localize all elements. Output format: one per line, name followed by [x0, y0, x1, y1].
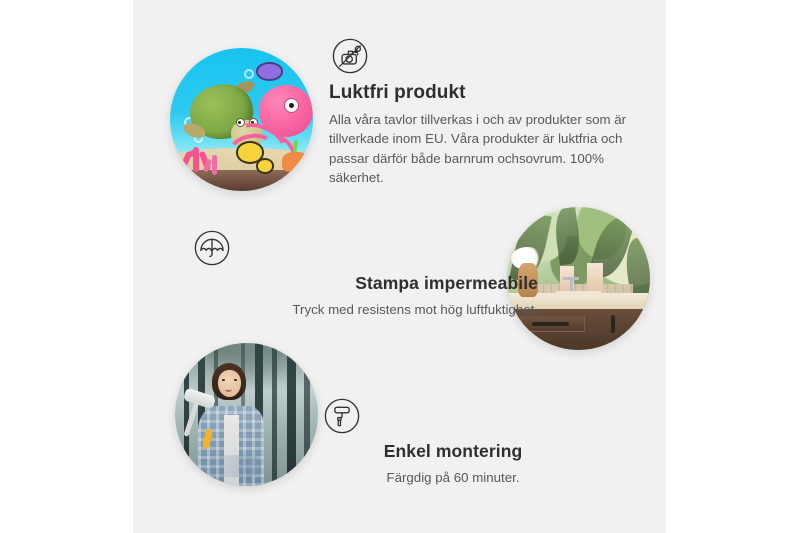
feature-easy-install: Enkel montering Färgdig på 60 minuter.: [323, 397, 583, 487]
cabinet-door-handle: [611, 315, 615, 332]
woman-eye: [234, 379, 237, 381]
feature-body: Färgdig på 60 minuter.: [323, 468, 583, 487]
octopus-eye: [284, 98, 299, 113]
coral-small: [201, 147, 224, 176]
umbrella-icon: [193, 229, 534, 267]
woman-crossed-arms: [201, 455, 261, 478]
feature-panel: Cartoon underwater scene with sea turtle…: [133, 0, 666, 533]
towel-roll: [587, 263, 603, 294]
feature-waterproof: Stampa impermeabile Tryck med resistens …: [193, 229, 538, 319]
no-spray-odorless-icon: [331, 37, 629, 75]
sea-floor-shadow: [170, 170, 313, 191]
woman-face: [218, 370, 241, 397]
feature-title: Stampa impermeabile: [193, 273, 538, 294]
feature-title: Enkel montering: [323, 441, 583, 462]
drawer-handle: [532, 322, 568, 326]
photo-underwater: Cartoon underwater scene with sea turtle…: [170, 48, 313, 191]
feature-odorless: Luktfri produkt Alla våra tavlor tillver…: [329, 37, 629, 188]
blue-fish: [256, 62, 283, 80]
sink-basin: [556, 291, 602, 298]
screenshot-stage: Cartoon underwater scene with sea turtle…: [0, 0, 800, 533]
feature-body: Alla våra tavlor tillverkas i och av pro…: [329, 110, 629, 188]
feature-title: Luktfri produkt: [329, 82, 629, 104]
starfish: [282, 152, 311, 172]
photo-forest: Smiling woman holding a paint roller in …: [175, 343, 318, 486]
yellow-fish-small: [256, 158, 274, 173]
paint-roller-icon: [323, 397, 583, 435]
woman-eye: [222, 379, 225, 381]
feature-body: Tryck med resistens mot hög luftfuktighe…: [193, 300, 538, 319]
